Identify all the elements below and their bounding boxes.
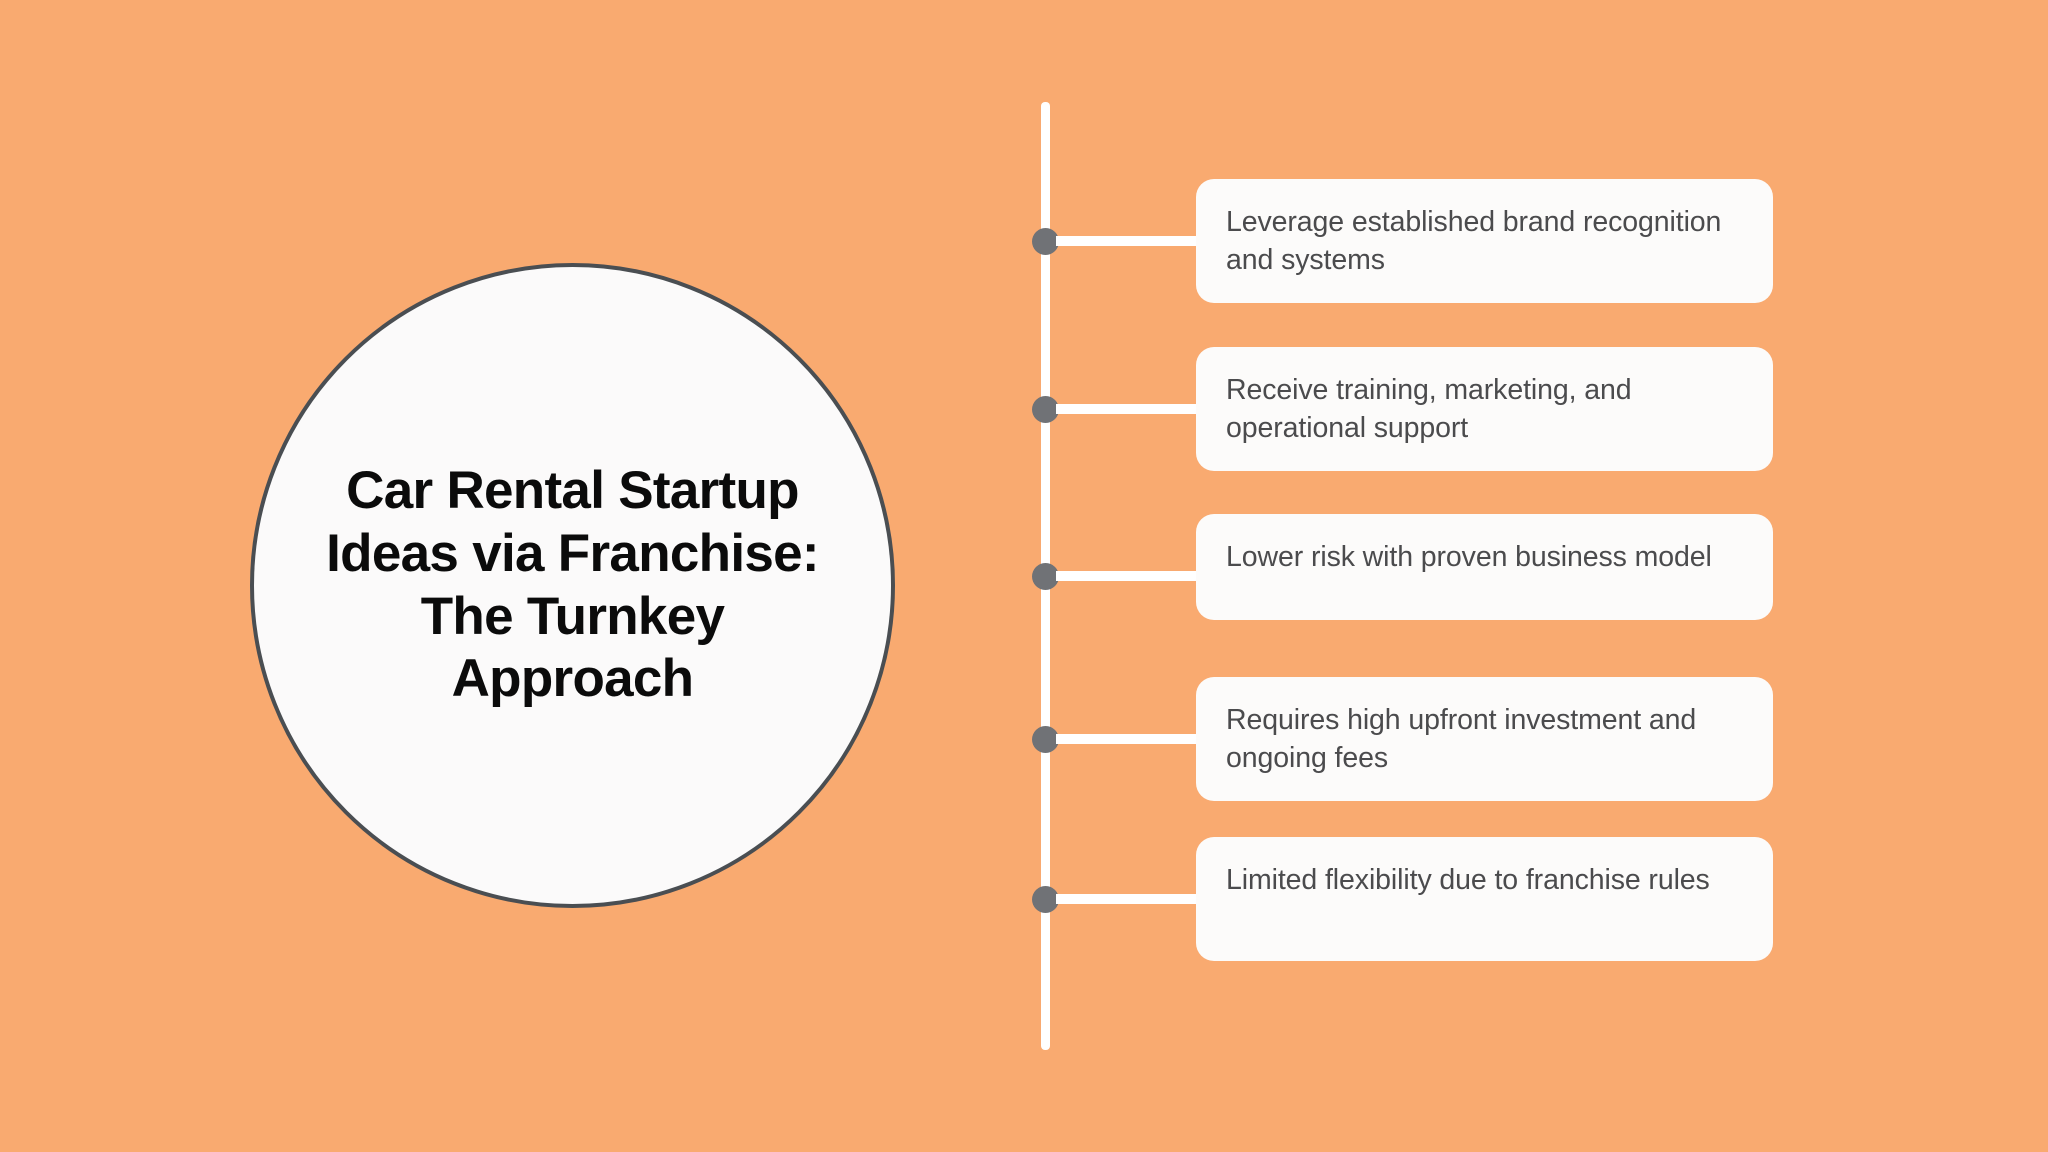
timeline-card[interactable]: Requires high upfront investment and ong… — [1196, 677, 1773, 801]
timeline-connector — [1056, 894, 1201, 904]
timeline-item: Receive training, marketing, and operati… — [1036, 347, 1784, 471]
timeline-connector — [1056, 236, 1201, 246]
timeline-item: Limited flexibility due to franchise rul… — [1036, 837, 1784, 961]
timeline-card[interactable]: Receive training, marketing, and operati… — [1196, 347, 1773, 471]
timeline-card-text: Receive training, marketing, and operati… — [1226, 371, 1743, 448]
timeline-dot-icon — [1032, 886, 1059, 913]
timeline-dot-icon — [1032, 726, 1059, 753]
timeline-card-text: Limited flexibility due to franchise rul… — [1226, 861, 1743, 899]
page-title: Car Rental Startup Ideas via Franchise: … — [300, 460, 846, 710]
timeline-card-text: Requires high upfront investment and ong… — [1226, 701, 1743, 778]
title-circle: Car Rental Startup Ideas via Franchise: … — [250, 263, 895, 908]
timeline-card-text: Leverage established brand recognition a… — [1226, 203, 1743, 280]
timeline-connector — [1056, 571, 1201, 581]
timeline-card[interactable]: Limited flexibility due to franchise rul… — [1196, 837, 1773, 961]
timeline-dot-icon — [1032, 563, 1059, 590]
timeline-card-text: Lower risk with proven business model — [1226, 538, 1743, 576]
timeline-item: Lower risk with proven business model — [1036, 514, 1784, 638]
timeline-dot-icon — [1032, 396, 1059, 423]
timeline-card[interactable]: Leverage established brand recognition a… — [1196, 179, 1773, 303]
timeline-connector — [1056, 404, 1201, 414]
timeline-card[interactable]: Lower risk with proven business model — [1196, 514, 1773, 620]
timeline: Leverage established brand recognition a… — [1036, 102, 1784, 1050]
timeline-connector — [1056, 734, 1201, 744]
timeline-dot-icon — [1032, 228, 1059, 255]
timeline-item: Requires high upfront investment and ong… — [1036, 677, 1784, 801]
timeline-item: Leverage established brand recognition a… — [1036, 179, 1784, 303]
infographic-canvas: Car Rental Startup Ideas via Franchise: … — [0, 0, 2048, 1152]
